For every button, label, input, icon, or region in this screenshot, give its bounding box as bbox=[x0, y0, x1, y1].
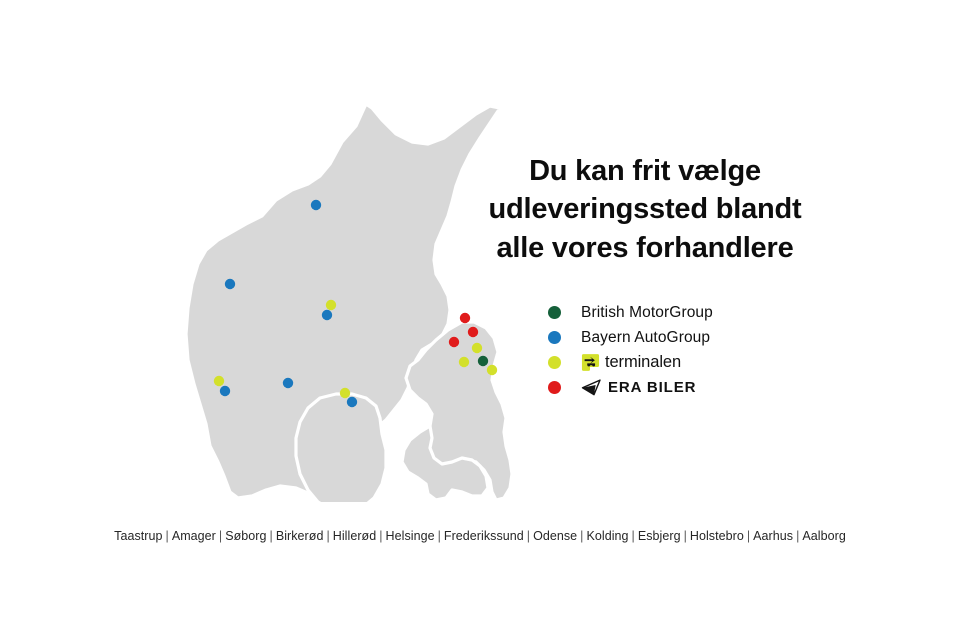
city-name-birker-d: Birkerød bbox=[276, 529, 324, 543]
legend-item-terminalen: terminalen bbox=[548, 350, 868, 375]
city-separator: | bbox=[163, 529, 172, 543]
city-list-strip: Taastrup|Amager|Søborg|Birkerød|Hillerød… bbox=[0, 529, 960, 543]
city-name-taastrup: Taastrup bbox=[114, 529, 162, 543]
era-biler-logo: ERA BILER bbox=[581, 379, 696, 396]
legend-item-bayern-autogroup: Bayern AutoGroup bbox=[548, 325, 868, 350]
legend-item-era-biler: ERA BILER bbox=[548, 375, 868, 400]
city-separator: | bbox=[744, 529, 753, 543]
city-separator: | bbox=[216, 529, 225, 543]
era-biler-wordmark: ERA BILER bbox=[608, 379, 696, 396]
city-name-amager: Amager bbox=[172, 529, 216, 543]
city-name-odense: Odense bbox=[533, 529, 577, 543]
headline-line-2: udleveringssted blandt bbox=[455, 190, 835, 228]
city-separator: | bbox=[524, 529, 533, 543]
city-name-s-borg: Søborg bbox=[225, 529, 266, 543]
page-headline: Du kan frit vælge udleveringssted blandt… bbox=[455, 152, 835, 267]
city-separator: | bbox=[267, 529, 276, 543]
legend-dot-icon bbox=[548, 306, 561, 319]
city-name-esbjerg: Esbjerg bbox=[638, 529, 681, 543]
era-biler-triangle-icon bbox=[581, 379, 602, 396]
terminalen-mark-icon bbox=[581, 353, 600, 372]
legend-label-bayern-autogroup: Bayern AutoGroup bbox=[581, 329, 710, 347]
city-name-helsinge: Helsinge bbox=[386, 529, 435, 543]
city-separator: | bbox=[793, 529, 802, 543]
headline-line-1: Du kan frit vælge bbox=[455, 152, 835, 190]
city-name-aarhus: Aarhus bbox=[753, 529, 793, 543]
region-funen bbox=[296, 394, 386, 502]
city-separator: | bbox=[629, 529, 638, 543]
city-name-aalborg: Aalborg bbox=[802, 529, 845, 543]
headline-line-3: alle vores forhandlere bbox=[455, 229, 835, 267]
terminalen-logo: terminalen bbox=[581, 353, 681, 372]
dealer-legend: British MotorGroup Bayern AutoGroup term… bbox=[548, 300, 868, 400]
city-separator: | bbox=[376, 529, 385, 543]
city-name-holstebro: Holstebro bbox=[690, 529, 744, 543]
legend-dot-icon bbox=[548, 381, 561, 394]
legend-item-british-motorgroup: British MotorGroup bbox=[548, 300, 868, 325]
legend-label-british-motorgroup: British MotorGroup bbox=[581, 304, 713, 322]
legend-dot-icon bbox=[548, 356, 561, 369]
city-name-kolding: Kolding bbox=[586, 529, 628, 543]
city-name-hiller-d: Hillerød bbox=[333, 529, 376, 543]
legend-dot-icon bbox=[548, 331, 561, 344]
city-separator: | bbox=[323, 529, 332, 543]
terminalen-wordmark: terminalen bbox=[605, 353, 681, 372]
city-name-frederikssund: Frederikssund bbox=[444, 529, 524, 543]
city-separator: | bbox=[435, 529, 444, 543]
city-separator: | bbox=[681, 529, 690, 543]
